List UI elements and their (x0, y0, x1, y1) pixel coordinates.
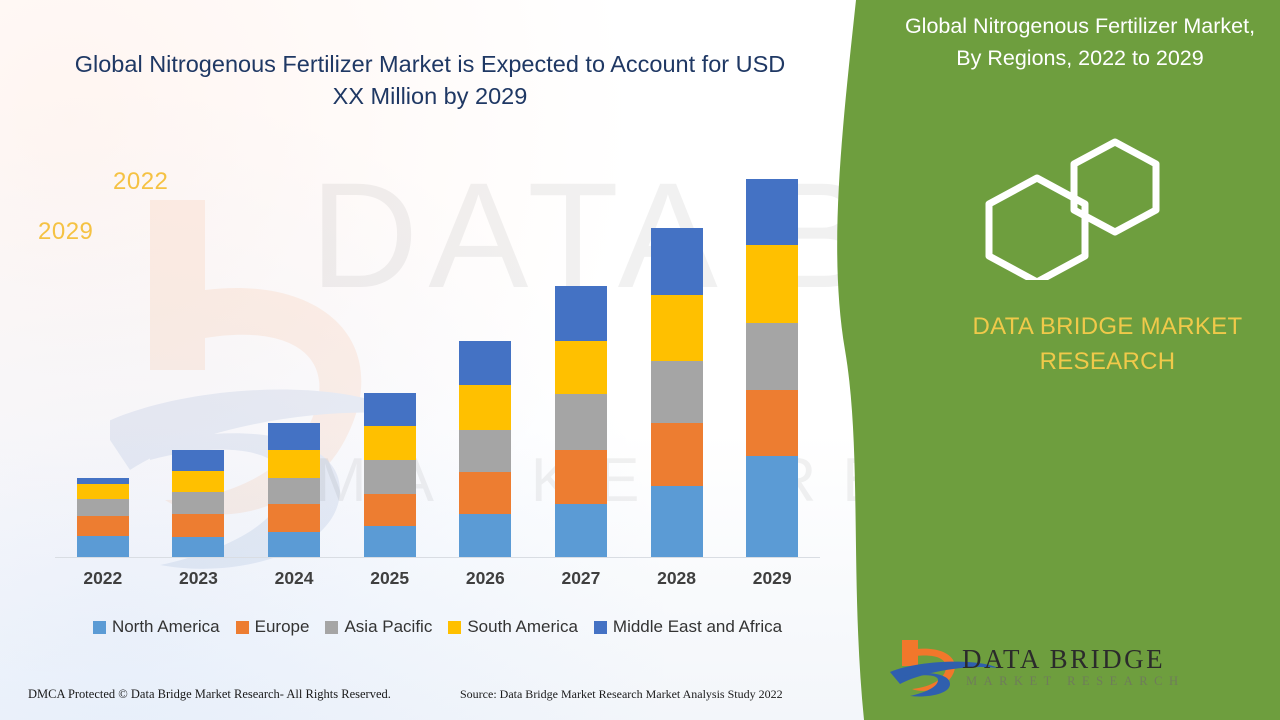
bar-segment (746, 179, 798, 245)
logo-brand-subtitle: MARKET RESEARCH (966, 674, 1184, 689)
bar-segment (651, 295, 703, 361)
legend-item[interactable]: South America (448, 617, 578, 637)
bar-column (629, 150, 725, 557)
bar-segment (459, 385, 511, 430)
bar-segment (77, 484, 129, 499)
bar-column (724, 150, 820, 557)
stacked-bar (172, 450, 224, 557)
legend-swatch-icon (236, 621, 249, 634)
bar-column (246, 150, 342, 557)
bar-segment (555, 504, 607, 557)
bar-segment (364, 426, 416, 461)
x-axis-tick-label: 2026 (438, 568, 534, 589)
bar-segment (651, 361, 703, 423)
panel-brand-text: DATA BRIDGE MARKET RESEARCH (940, 310, 1275, 380)
bar-segment (651, 486, 703, 557)
stacked-bar (268, 423, 320, 557)
legend-item[interactable]: North America (93, 617, 220, 637)
bar-segment (459, 341, 511, 385)
bar-segment (555, 286, 607, 341)
bar-segment (268, 504, 320, 531)
bar-segment (746, 245, 798, 323)
bar-segment (268, 423, 320, 450)
bar-column (533, 150, 629, 557)
bar-segment (172, 537, 224, 557)
bar-column (55, 150, 151, 557)
bar-segment (364, 393, 416, 426)
x-axis-tick-label: 2022 (55, 568, 151, 589)
hexagons-icon (975, 130, 1190, 280)
legend-label: Europe (255, 617, 310, 637)
chart-bars (55, 150, 820, 557)
bar-segment (77, 536, 129, 557)
legend-swatch-icon (93, 621, 106, 634)
legend-label: North America (112, 617, 220, 637)
x-axis-labels: 20222023202420252026202720282029 (55, 568, 820, 589)
bar-segment (364, 526, 416, 557)
bar-segment (651, 228, 703, 294)
x-axis-tick-label: 2029 (724, 568, 820, 589)
bar-column (438, 150, 534, 557)
legend-swatch-icon (325, 621, 338, 634)
hexagon-group (975, 130, 1190, 280)
x-axis-tick-label: 2023 (151, 568, 247, 589)
bar-segment (77, 516, 129, 535)
bar-segment (77, 499, 129, 516)
bar-segment (459, 472, 511, 515)
bar-segment (651, 423, 703, 486)
bar-segment (172, 471, 224, 492)
x-axis-tick-label: 2027 (533, 568, 629, 589)
legend-label: Asia Pacific (344, 617, 432, 637)
bar-segment (268, 450, 320, 477)
bar-segment (459, 514, 511, 557)
stacked-bar (746, 179, 798, 557)
bar-column (151, 150, 247, 557)
x-axis-tick-label: 2028 (629, 568, 725, 589)
panel-title: Global Nitrogenous Fertilizer Market, By… (900, 10, 1260, 75)
bar-segment (268, 532, 320, 557)
bar-segment (172, 514, 224, 536)
footer-copyright: DMCA Protected © Data Bridge Market Rese… (28, 687, 391, 702)
bar-segment (172, 492, 224, 514)
bar-segment (555, 341, 607, 394)
footer-source: Source: Data Bridge Market Research Mark… (460, 687, 783, 702)
logo-brand-name: DATA BRIDGE (962, 644, 1165, 675)
stacked-bar (651, 228, 703, 557)
legend-item[interactable]: Europe (236, 617, 310, 637)
legend-swatch-icon (448, 621, 461, 634)
bar-segment (555, 394, 607, 450)
x-axis-tick-label: 2025 (342, 568, 438, 589)
legend-swatch-icon (594, 621, 607, 634)
bar-segment (364, 460, 416, 494)
bar-segment (746, 456, 798, 557)
bar-segment (555, 450, 607, 504)
bar-segment (364, 494, 416, 527)
stacked-bar (459, 341, 511, 557)
legend-item[interactable]: Middle East and Africa (594, 617, 782, 637)
legend-label: South America (467, 617, 578, 637)
legend-label: Middle East and Africa (613, 617, 782, 637)
poster-root: DATA BRIDGE MARKET RESEARCH Global Nitro… (0, 0, 1280, 720)
x-axis-tick-label: 2024 (246, 568, 342, 589)
bar-segment (172, 450, 224, 470)
stacked-bar (77, 478, 129, 557)
hexagon-2029-shape (989, 178, 1085, 280)
chart-legend: North AmericaEuropeAsia PacificSouth Ame… (55, 617, 820, 637)
legend-item[interactable]: Asia Pacific (325, 617, 432, 637)
hexagon-2022-label: 2022 (113, 168, 168, 196)
x-axis-line (55, 557, 820, 558)
chart-title: Global Nitrogenous Fertilizer Market is … (60, 48, 800, 113)
hexagon-2029-label: 2029 (38, 218, 93, 246)
bar-segment (268, 478, 320, 504)
bar-column (342, 150, 438, 557)
bar-segment (746, 390, 798, 456)
bar-segment (459, 430, 511, 472)
bar-segment (746, 323, 798, 390)
stacked-bar (364, 393, 416, 557)
stacked-bar (555, 286, 607, 557)
